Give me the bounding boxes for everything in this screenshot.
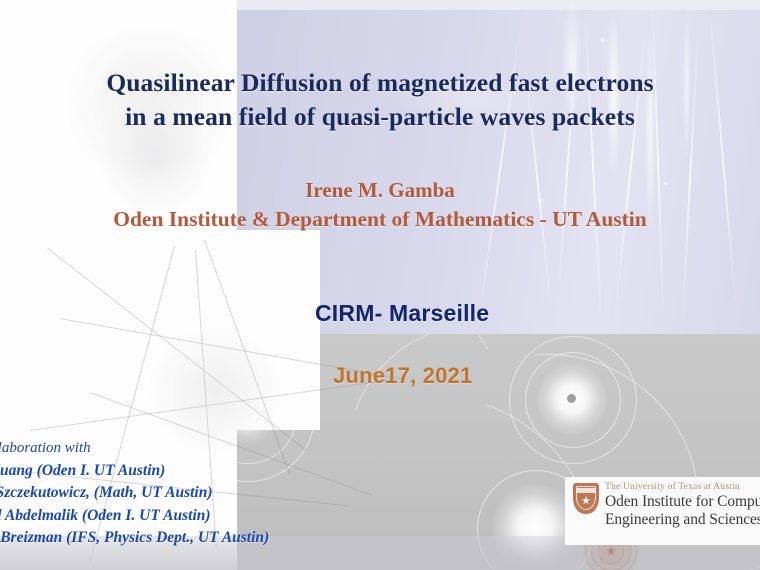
ut-shield-icon: [573, 483, 599, 514]
title-line-1: Quasilinear Diffusion of magnetized fast…: [106, 68, 653, 97]
oden-institute-logo: The University of Texas at Austin Oden I…: [565, 477, 760, 545]
title-line-2: in a mean field of quasi-particle waves …: [0, 100, 760, 134]
presentation-slide: Quasilinear Diffusion of magnetized fast…: [0, 0, 760, 570]
collaborators-list: ollaboration with Huang (Oden I. UT Aust…: [0, 437, 420, 550]
logo-institute-line-1: Oden Institute for Computa: [605, 493, 760, 511]
collaborator-item: hael Abdelmalik (Oden I. UT Austin): [0, 505, 420, 528]
logo-university-name: The University of Texas at Austin: [605, 482, 760, 493]
collaborators-heading: ollaboration with: [0, 437, 420, 460]
collaborator-item: a Szczekutowicz, (Math, UT Austin): [0, 482, 420, 505]
collaborator-item: is Breizman (IFS, Physics Dept., UT Aust…: [0, 527, 420, 550]
logo-institute-line-2: Engineering and Sciences: [605, 511, 760, 529]
collaborator-item: Huang (Oden I. UT Austin): [0, 460, 420, 483]
event-date: June17, 2021: [333, 363, 472, 389]
page-title: Quasilinear Diffusion of magnetized fast…: [0, 66, 760, 134]
author-name: Irene M. Gamba: [0, 178, 760, 203]
author-affiliation: Oden Institute & Department of Mathemati…: [0, 207, 760, 232]
event-venue: CIRM- Marseille: [315, 300, 489, 327]
